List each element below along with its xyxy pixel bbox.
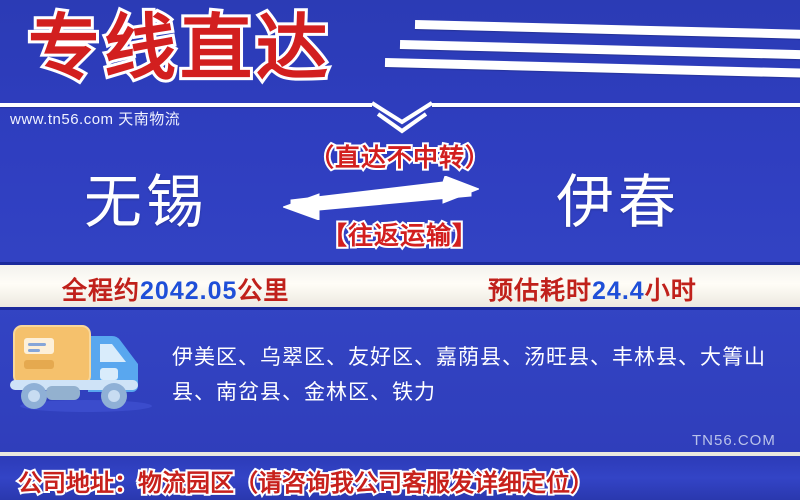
delivery-truck-icon	[4, 318, 164, 414]
duration-metric: 预估耗时24.4小时	[488, 271, 697, 307]
duration-unit: 小时	[645, 277, 697, 305]
round-trip-badge: 【往返运输】	[0, 216, 800, 252]
decorative-stripe-3	[385, 58, 800, 78]
direct-route-badge-label: （直达不中转）	[309, 138, 491, 174]
round-trip-badge-label: 【往返运输】	[322, 216, 478, 252]
distance-unit: 公里	[237, 277, 289, 305]
route-metrics-strip: 全程约2042.05公里 预估耗时24.4小时	[0, 262, 800, 310]
header-divider-left	[0, 103, 372, 107]
decorative-stripe-2	[400, 40, 800, 59]
page-title: 专线直达	[28, 6, 332, 92]
distance-label: 全程约	[62, 277, 140, 305]
duration-label: 预估耗时	[488, 277, 592, 305]
distance-value: 2042.05	[140, 277, 237, 305]
direct-route-badge: （直达不中转）	[0, 138, 800, 174]
duration-value: 24.4	[592, 277, 645, 305]
header-divider-right	[432, 103, 800, 107]
double-chevron-down-icon	[370, 100, 434, 134]
site-url-label: www.tn56.com 天南物流	[10, 108, 180, 129]
watermark-label: TN56.COM	[692, 432, 776, 449]
decorative-stripe-1	[415, 20, 800, 39]
bidirectional-arrow-icon	[283, 176, 479, 220]
distance-metric: 全程约2042.05公里	[62, 271, 289, 307]
logistics-route-banner: 专线直达 www.tn56.com 天南物流 无锡 伊春 （直达不中转） 【往返…	[0, 0, 800, 500]
coverage-area-list: 伊美区、乌翠区、友好区、嘉荫县、汤旺县、丰林县、大箐山县、南岔县、金林区、铁力	[172, 340, 784, 410]
company-address-label: 公司地址：物流园区（请咨询我公司客服发详细定位）	[18, 463, 594, 498]
